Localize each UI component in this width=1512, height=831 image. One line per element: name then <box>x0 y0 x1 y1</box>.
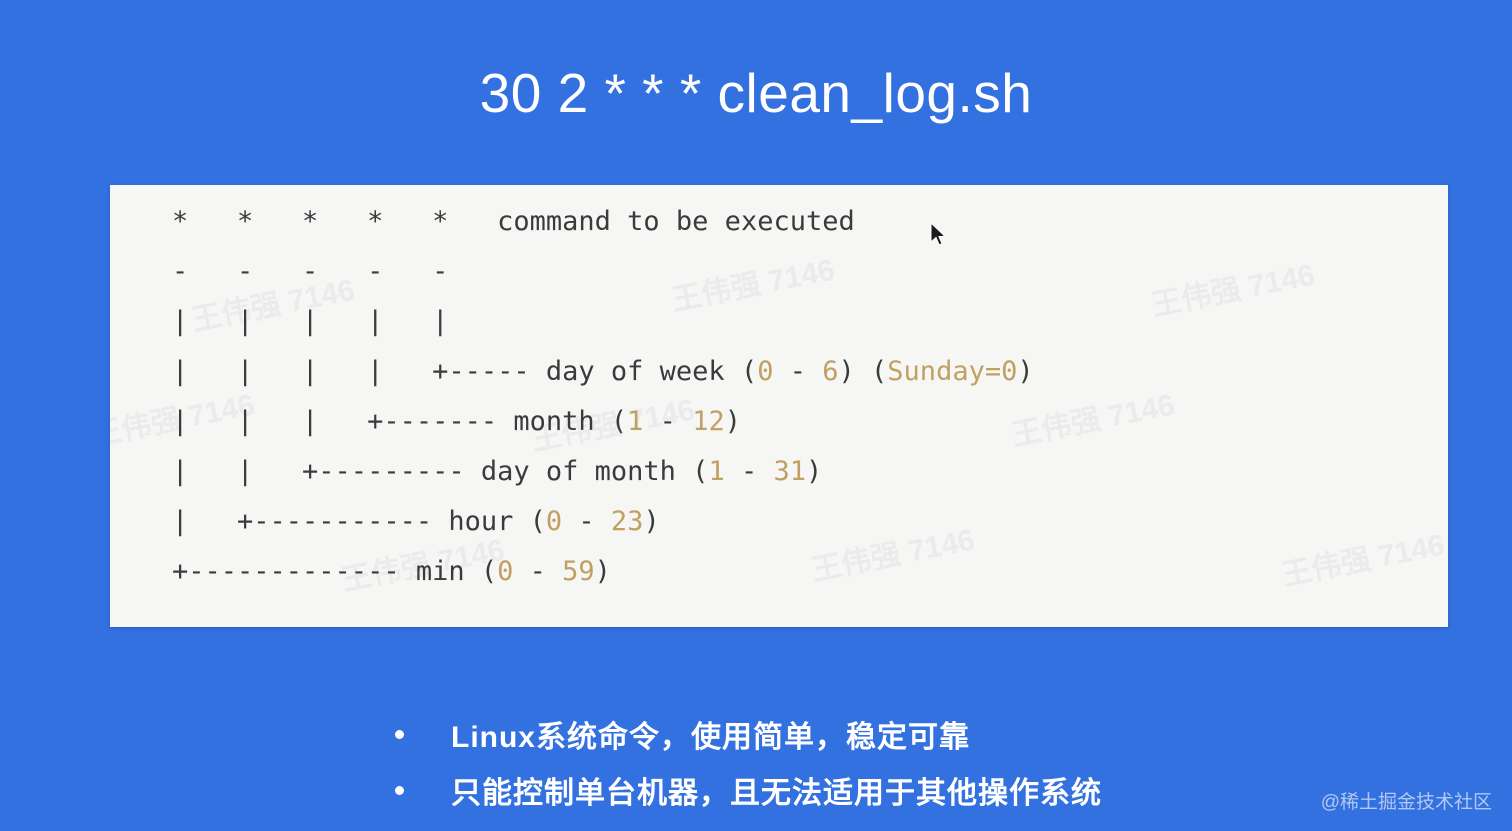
text-token: | | | +------- month ( <box>172 406 627 437</box>
watermark-text: 王伟强 7146 <box>1447 375 1448 450</box>
line-stars: * * * * * command to be executed <box>172 197 1034 247</box>
line-day-of-month: | | +--------- day of month (1 - 31) <box>172 447 1034 497</box>
line-day-of-week: | | | | +----- day of week (0 - 6) (Sund… <box>172 347 1034 397</box>
text-token: ) <box>1017 356 1033 387</box>
slide-canvas: 30 2 * * * clean_log.sh 王伟强 7146王伟强 7146… <box>0 0 1512 831</box>
value-token: 0 <box>546 506 562 537</box>
value-token: 0 <box>497 556 513 587</box>
line-min: +------------- min (0 - 59) <box>172 547 1034 597</box>
text-token: - <box>513 556 562 587</box>
bullet-text: 只能控制单台机器，且无法适用于其他操作系统 <box>451 768 1102 812</box>
text-token: ) <box>643 506 659 537</box>
page-title: 30 2 * * * clean_log.sh <box>0 62 1512 125</box>
value-token: 1 <box>627 406 643 437</box>
crontab-diagram-text: * * * * * command to be executed- - - - … <box>172 197 1034 597</box>
value-token: 6 <box>822 356 838 387</box>
bullet-text: Linux系统命令，使用简单，稳定可靠 <box>451 712 970 756</box>
value-token: 0 <box>757 356 773 387</box>
line-month: | | | +------- month (1 - 12) <box>172 397 1034 447</box>
text-token: ) ( <box>839 356 888 387</box>
text-token: ) <box>725 406 741 437</box>
text-token: - <box>773 356 822 387</box>
line-pipes: | | | | | <box>172 297 1034 347</box>
text-token: | | | | | <box>172 306 448 337</box>
value-token: 31 <box>773 456 806 487</box>
text-token: - <box>725 456 774 487</box>
bullet-limitation: 只能控制单台机器，且无法适用于其他操作系统 <box>392 762 1392 818</box>
line-hour: | +----------- hour (0 - 23) <box>172 497 1034 547</box>
text-token: | +----------- hour ( <box>172 506 546 537</box>
bullet-dot-icon <box>395 786 404 795</box>
line-dashes: - - - - - <box>172 247 1034 297</box>
value-token: 1 <box>708 456 724 487</box>
text-token: | | | | +----- day of week ( <box>172 356 757 387</box>
text-token: - - - - - <box>172 256 448 287</box>
value-token: Sunday=0 <box>887 356 1017 387</box>
watermark-text: 王伟强 7146 <box>1277 520 1447 595</box>
text-token: * * * * * command to be executed <box>172 206 855 237</box>
text-token: - <box>643 406 692 437</box>
value-token: 23 <box>611 506 644 537</box>
bullet-list: Linux系统命令，使用简单，稳定可靠只能控制单台机器，且无法适用于其他操作系统 <box>392 706 1392 818</box>
text-token: ) <box>595 556 611 587</box>
bullet-dot-icon <box>395 730 404 739</box>
text-token: ) <box>806 456 822 487</box>
corner-watermark: @稀土掘金技术社区 <box>1321 787 1492 814</box>
watermark-text: 王伟强 7146 <box>1147 250 1317 325</box>
value-token: 12 <box>692 406 725 437</box>
value-token: 59 <box>562 556 595 587</box>
text-token: - <box>562 506 611 537</box>
bullet-advantage: Linux系统命令，使用简单，稳定可靠 <box>392 706 1392 762</box>
text-token: +------------- min ( <box>172 556 497 587</box>
text-token: | | +--------- day of month ( <box>172 456 708 487</box>
crontab-diagram-panel: 王伟强 7146王伟强 7146王伟强 7146王伟强 7146王伟强 7146… <box>110 185 1448 627</box>
